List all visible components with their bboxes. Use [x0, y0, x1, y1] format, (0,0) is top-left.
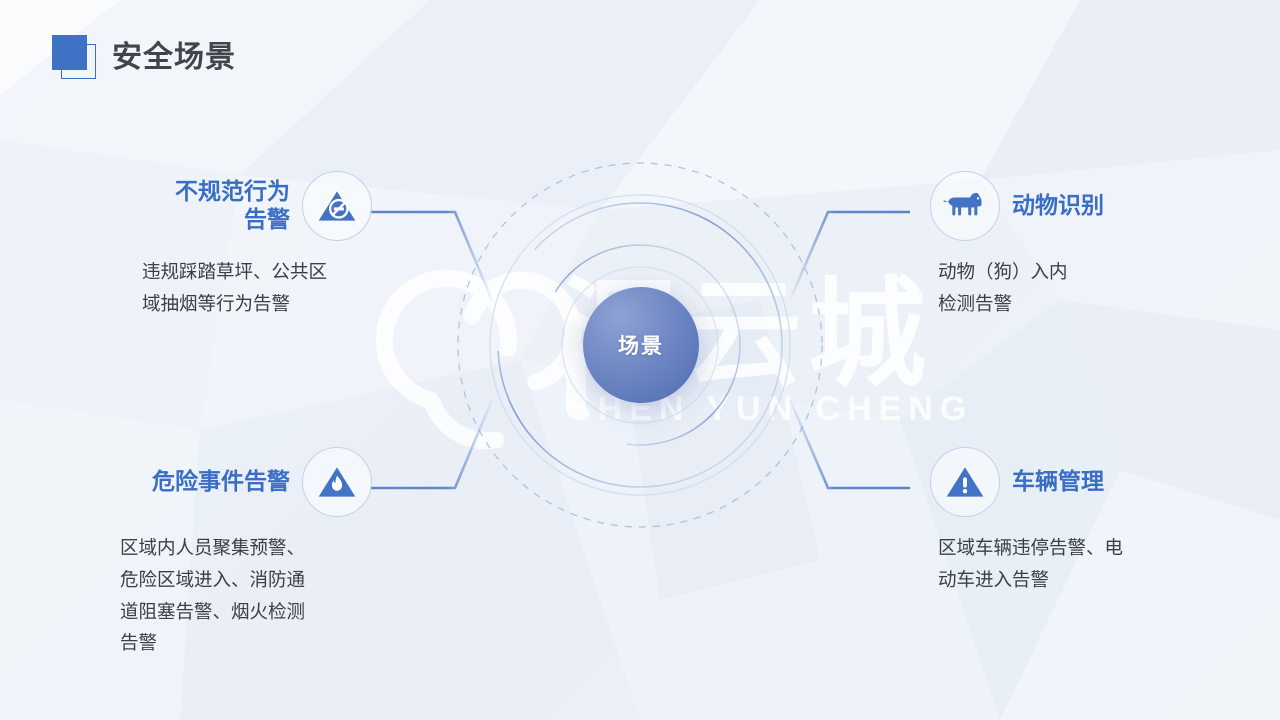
node-illegal-behavior[interactable]: 不规范行为 告警 违规踩踏草坪、公共区 域抽烟等行为告警 — [0, 170, 372, 320]
inner-ring — [540, 245, 740, 445]
mid-ring — [498, 203, 782, 487]
center-orb-label: 场景 — [618, 330, 664, 360]
node-description: 区域内人员聚集预警、 危险区域进入、消防通 道阻塞告警、烟火检测 告警 — [120, 532, 372, 659]
node-title: 不规范行为 告警 — [175, 178, 290, 233]
node-header: 不规范行为 告警 — [0, 170, 372, 242]
node-description: 动物（狗）入内 检测告警 — [938, 256, 1280, 320]
node-description: 区域车辆违停告警、电 动车进入告警 — [938, 532, 1280, 596]
node-description: 违规踩踏草坪、公共区 域抽烟等行为告警 — [142, 256, 372, 320]
connector-bottom-right — [790, 400, 910, 488]
dog-icon[interactable] — [930, 171, 1000, 241]
connector-bottom-left — [370, 400, 492, 488]
watermark-sub: SHEN YUN CHENG — [568, 392, 973, 426]
node-title: 车辆管理 — [1012, 468, 1104, 496]
connector-top-left — [370, 212, 492, 300]
connector-top-right — [790, 212, 910, 300]
watermark-main: 深云城 — [560, 276, 932, 394]
outer-dashed-ring — [458, 163, 822, 527]
node-danger-event[interactable]: 危险事件告警 区域内人员聚集预警、 危险区域进入、消防通 道阻塞告警、烟火检测 … — [0, 446, 372, 659]
node-vehicle-management[interactable]: 车辆管理 区域车辆违停告警、电 动车进入告警 — [930, 446, 1280, 596]
inner-soft-ring — [562, 267, 718, 423]
node-header: 车辆管理 — [930, 446, 1280, 518]
page-title: 安全场景 — [112, 43, 236, 73]
logo-solid-square — [52, 35, 87, 70]
slide-canvas: 深云城 SHEN YUN CHENG 深云城信息科技 SHEN YUN CHEN… — [0, 0, 1280, 720]
fire-triangle-icon[interactable] — [302, 447, 372, 517]
no-smoking-triangle-icon[interactable] — [302, 171, 372, 241]
warning-triangle-icon[interactable] — [930, 447, 1000, 517]
node-header: 危险事件告警 — [0, 446, 372, 518]
node-title: 动物识别 — [1012, 192, 1104, 220]
node-header: 动物识别 — [930, 170, 1280, 242]
outer-soft-ring — [490, 195, 790, 495]
logo-icon — [52, 35, 98, 81]
page-header: 安全场景 — [52, 32, 236, 84]
watermark-mini-en: SHEN YUN CHENG — [588, 354, 697, 364]
watermark-mini: 深云城信息科技 — [596, 340, 687, 357]
node-title: 危险事件告警 — [152, 468, 290, 496]
node-animal-recognition[interactable]: 动物识别 动物（狗）入内 检测告警 — [930, 170, 1280, 320]
center-orb: 场景 — [583, 287, 699, 403]
